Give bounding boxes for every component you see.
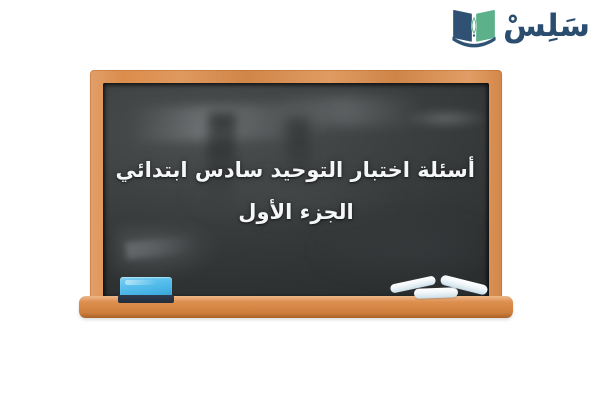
eraser-body (120, 277, 172, 296)
chalk-smudge (273, 96, 420, 126)
blackboard-title-block: أسئلة اختبار التوحيد سادس ابتدائي الجزء … (103, 157, 489, 226)
eraser-base (118, 295, 174, 303)
poster-canvas: سَلِسْ (0, 0, 600, 400)
blackboard-title-line-2: الجزء الأول (117, 199, 475, 225)
chalk-stick (414, 287, 458, 299)
open-book-icon (451, 6, 497, 50)
blackboard-title-line-1: أسئلة اختبار التوحيد سادس ابتدائي (117, 157, 475, 183)
blackboard-slate-surface: أسئلة اختبار التوحيد سادس ابتدائي الجزء … (103, 83, 489, 299)
blackboard: أسئلة اختبار التوحيد سادس ابتدائي الجزء … (90, 70, 502, 320)
chalk-sticks (388, 268, 498, 304)
chalk-smudge (404, 109, 489, 128)
brand-logo[interactable]: سَلِسْ (451, 6, 590, 50)
brand-name-text: سَلِسْ (503, 11, 590, 45)
chalk-smudge (133, 102, 335, 141)
chalk-smudge (115, 226, 223, 282)
chalk-smudge (125, 235, 196, 259)
chalkboard-eraser (118, 277, 174, 303)
